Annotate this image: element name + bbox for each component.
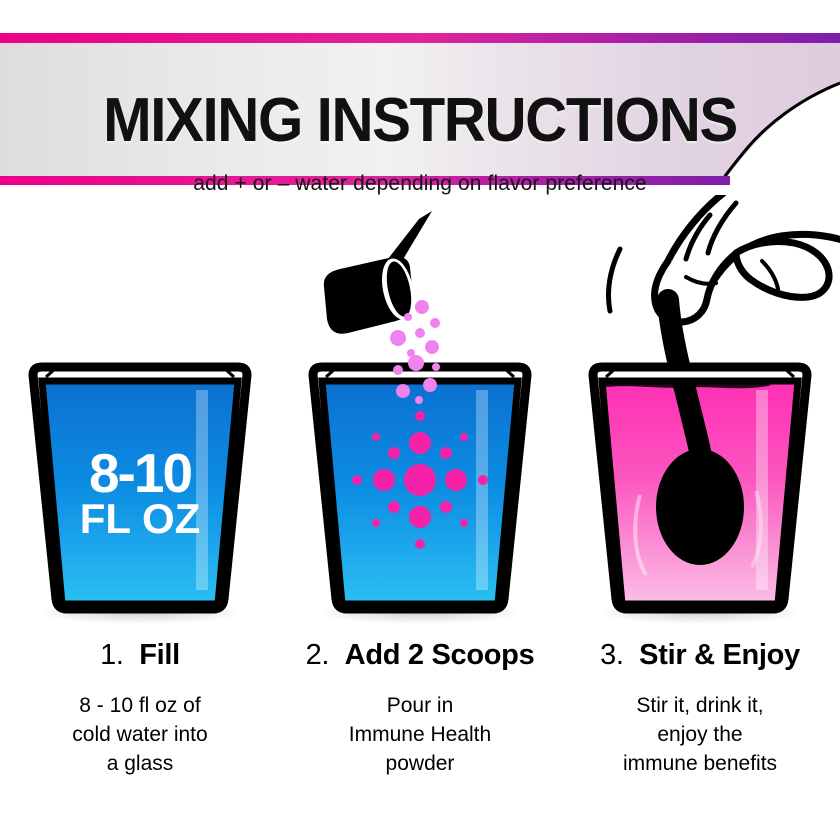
step-3-title-text: Stir & Enjoy	[639, 639, 800, 671]
step-1-fill: 8-10 FL OZ 1. Fill 8 - 10 fl oz of cold …	[0, 195, 280, 795]
measure-amount-label: 8-10	[0, 446, 280, 501]
step-1-title: 1. Fill	[0, 639, 280, 672]
glass-of-water-illustration	[0, 195, 280, 635]
step-1-body: 8 - 10 fl oz of cold water into a glass	[10, 691, 270, 778]
steps-row: 8-10 FL OZ 1. Fill 8 - 10 fl oz of cold …	[0, 195, 840, 795]
hand-stirring-illustration	[560, 195, 840, 635]
step-1-title-text: Fill	[139, 639, 180, 671]
spoon-bowl	[656, 449, 744, 565]
banner-top-accent-bar	[0, 33, 840, 43]
hand-icon	[608, 195, 840, 322]
step-2-title: 2. Add 2 Scoops	[280, 639, 560, 672]
step-1-body-line-1: 8 - 10 fl oz of	[10, 691, 270, 720]
scoop-icon	[324, 211, 432, 334]
step-2-add-scoops: 2. Add 2 Scoops Pour in Immune Health po…	[280, 195, 560, 795]
step-1-body-line-2: cold water into	[10, 720, 270, 749]
thumb	[736, 241, 829, 297]
step-2-body-line-3: powder	[290, 749, 550, 778]
scoop-pouring-illustration	[280, 195, 560, 635]
header-banner: MIXING INSTRUCTIONS add + or – water dep…	[0, 33, 840, 185]
step-3-body-line-3: immune benefits	[570, 749, 830, 778]
step-3-body-line-2: enjoy the	[570, 720, 830, 749]
step-2-body-line-2: Immune Health	[290, 720, 550, 749]
step-1-number: 1.	[100, 639, 131, 671]
hand-edge-line	[608, 249, 620, 311]
water-highlight	[476, 390, 488, 590]
step-3-body: Stir it, drink it, enjoy the immune bene…	[570, 691, 830, 778]
step-3-stir-enjoy: 3. Stir & Enjoy Stir it, drink it, enjoy…	[560, 195, 840, 795]
page-subtitle: add + or – water depending on flavor pre…	[0, 172, 840, 196]
drink-highlight	[756, 390, 768, 590]
step-3-body-line-1: Stir it, drink it,	[570, 691, 830, 720]
measure-unit-label: FL OZ	[0, 498, 280, 540]
page-title: MIXING INSTRUCTIONS	[25, 90, 815, 152]
step-2-number: 2.	[306, 639, 337, 671]
step-2-title-text: Add 2 Scoops	[345, 639, 535, 671]
step-2-body-line-1: Pour in	[290, 691, 550, 720]
step-1-body-line-3: a glass	[10, 749, 270, 778]
step-3-title: 3. Stir & Enjoy	[560, 639, 840, 672]
step-3-number: 3.	[600, 639, 631, 671]
step-2-body: Pour in Immune Health powder	[290, 691, 550, 778]
mixing-instructions-infographic: MIXING INSTRUCTIONS add + or – water dep…	[0, 0, 840, 840]
